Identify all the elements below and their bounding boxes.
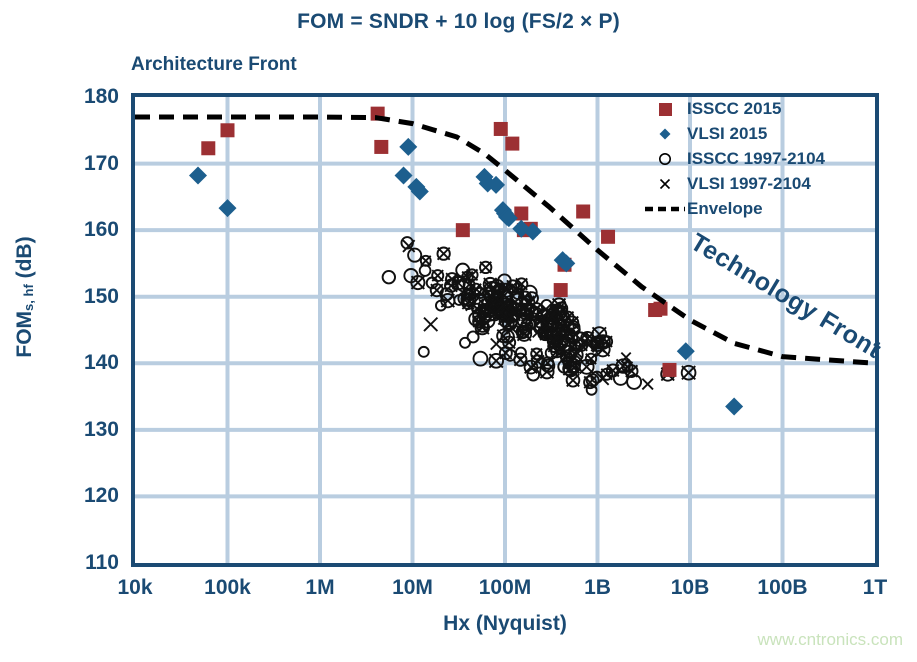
- data-point-square: [654, 302, 668, 316]
- diamond-marker-icon: [643, 121, 687, 146]
- data-point-circle: [420, 265, 431, 276]
- y-tick-label: 180: [84, 85, 119, 109]
- y-tick-label: 140: [84, 351, 119, 375]
- y-tick-label: 110: [85, 551, 119, 575]
- y-tick-label: 170: [84, 152, 119, 176]
- cross-marker-icon: [643, 171, 687, 196]
- data-point-circle: [419, 347, 429, 357]
- data-point-cross: [424, 318, 437, 331]
- data-point-cross: [642, 379, 653, 390]
- x-tick-label: 1T: [863, 576, 888, 600]
- x-tick-label: 10B: [671, 576, 710, 600]
- data-point-cross: [489, 354, 502, 367]
- data-point-square: [374, 140, 388, 154]
- chart-title: FOM = SNDR + 10 log (FS/2 × P): [0, 10, 917, 34]
- data-point-cross: [432, 270, 443, 281]
- data-point-cross: [438, 248, 450, 260]
- y-axis-title-unit: (dB): [13, 236, 36, 284]
- data-point-square: [662, 363, 676, 377]
- y-axis-title: FOMs, hf (dB): [13, 172, 37, 422]
- dashed-line-icon: [643, 196, 687, 221]
- data-point-circle: [408, 249, 421, 262]
- square-marker-icon: [643, 96, 687, 121]
- legend-item-envelope[interactable]: Envelope: [643, 196, 875, 221]
- x-tick-label: 100B: [757, 576, 807, 600]
- legend-label: ISSCC 1997-2104: [687, 149, 825, 169]
- x-tick-label: 10M: [392, 576, 433, 600]
- circle-marker-icon: [643, 146, 687, 171]
- y-tick-label: 150: [84, 285, 119, 309]
- legend-label: VLSI 2015: [687, 124, 767, 144]
- data-point-square: [494, 122, 508, 136]
- x-tick-label: 10k: [117, 576, 152, 600]
- architecture-front-annotation: Architecture Front: [131, 54, 297, 76]
- data-point-square: [505, 137, 519, 151]
- y-tick-label: 160: [84, 218, 119, 242]
- data-point-cross: [480, 262, 491, 273]
- y-tick-label: 130: [84, 418, 119, 442]
- x-tick-label: 1B: [584, 576, 611, 600]
- data-point-diamond: [677, 342, 695, 360]
- y-axis-title-main: FOM: [13, 311, 36, 358]
- x-tick-label: 100M: [479, 576, 532, 600]
- legend-label: VLSI 1997-2104: [687, 174, 811, 194]
- x-tick-label: 100k: [204, 576, 251, 600]
- data-point-cross: [421, 256, 431, 266]
- legend-label: ISSCC 2015: [687, 99, 782, 119]
- data-point-diamond: [725, 398, 743, 416]
- legend-item-vlsi-2015[interactable]: VLSI 2015: [643, 121, 875, 146]
- x-tick-label: 1M: [305, 576, 334, 600]
- watermark: www.cntronics.com: [758, 630, 903, 650]
- legend-label: Envelope: [687, 199, 763, 219]
- legend-item-vlsi-1997-2104[interactable]: VLSI 1997-2104: [643, 171, 875, 196]
- legend-item-isscc-1997-2104[interactable]: ISSCC 1997-2104: [643, 146, 875, 171]
- data-point-diamond: [395, 167, 413, 185]
- legend-item-isscc-2015[interactable]: ISSCC 2015: [643, 96, 875, 121]
- data-point-square: [576, 205, 590, 219]
- data-point-square: [201, 141, 215, 155]
- legend: ISSCC 2015 VLSI 2015 ISSCC 1997-2104 VLS…: [643, 96, 875, 221]
- data-point-diamond: [399, 138, 417, 156]
- data-point-square: [554, 283, 568, 297]
- data-point-diamond: [219, 199, 237, 217]
- y-axis-title-subscript: s, hf: [21, 284, 36, 311]
- x-axis-tick-labels: 10k100k1M10M100M1B10B100B1T: [0, 576, 917, 606]
- data-point-diamond: [189, 167, 207, 185]
- data-point-square: [221, 123, 235, 137]
- y-tick-label: 120: [84, 484, 119, 508]
- data-point-square: [456, 223, 470, 237]
- data-point-circle: [383, 271, 395, 283]
- data-point-square: [601, 230, 615, 244]
